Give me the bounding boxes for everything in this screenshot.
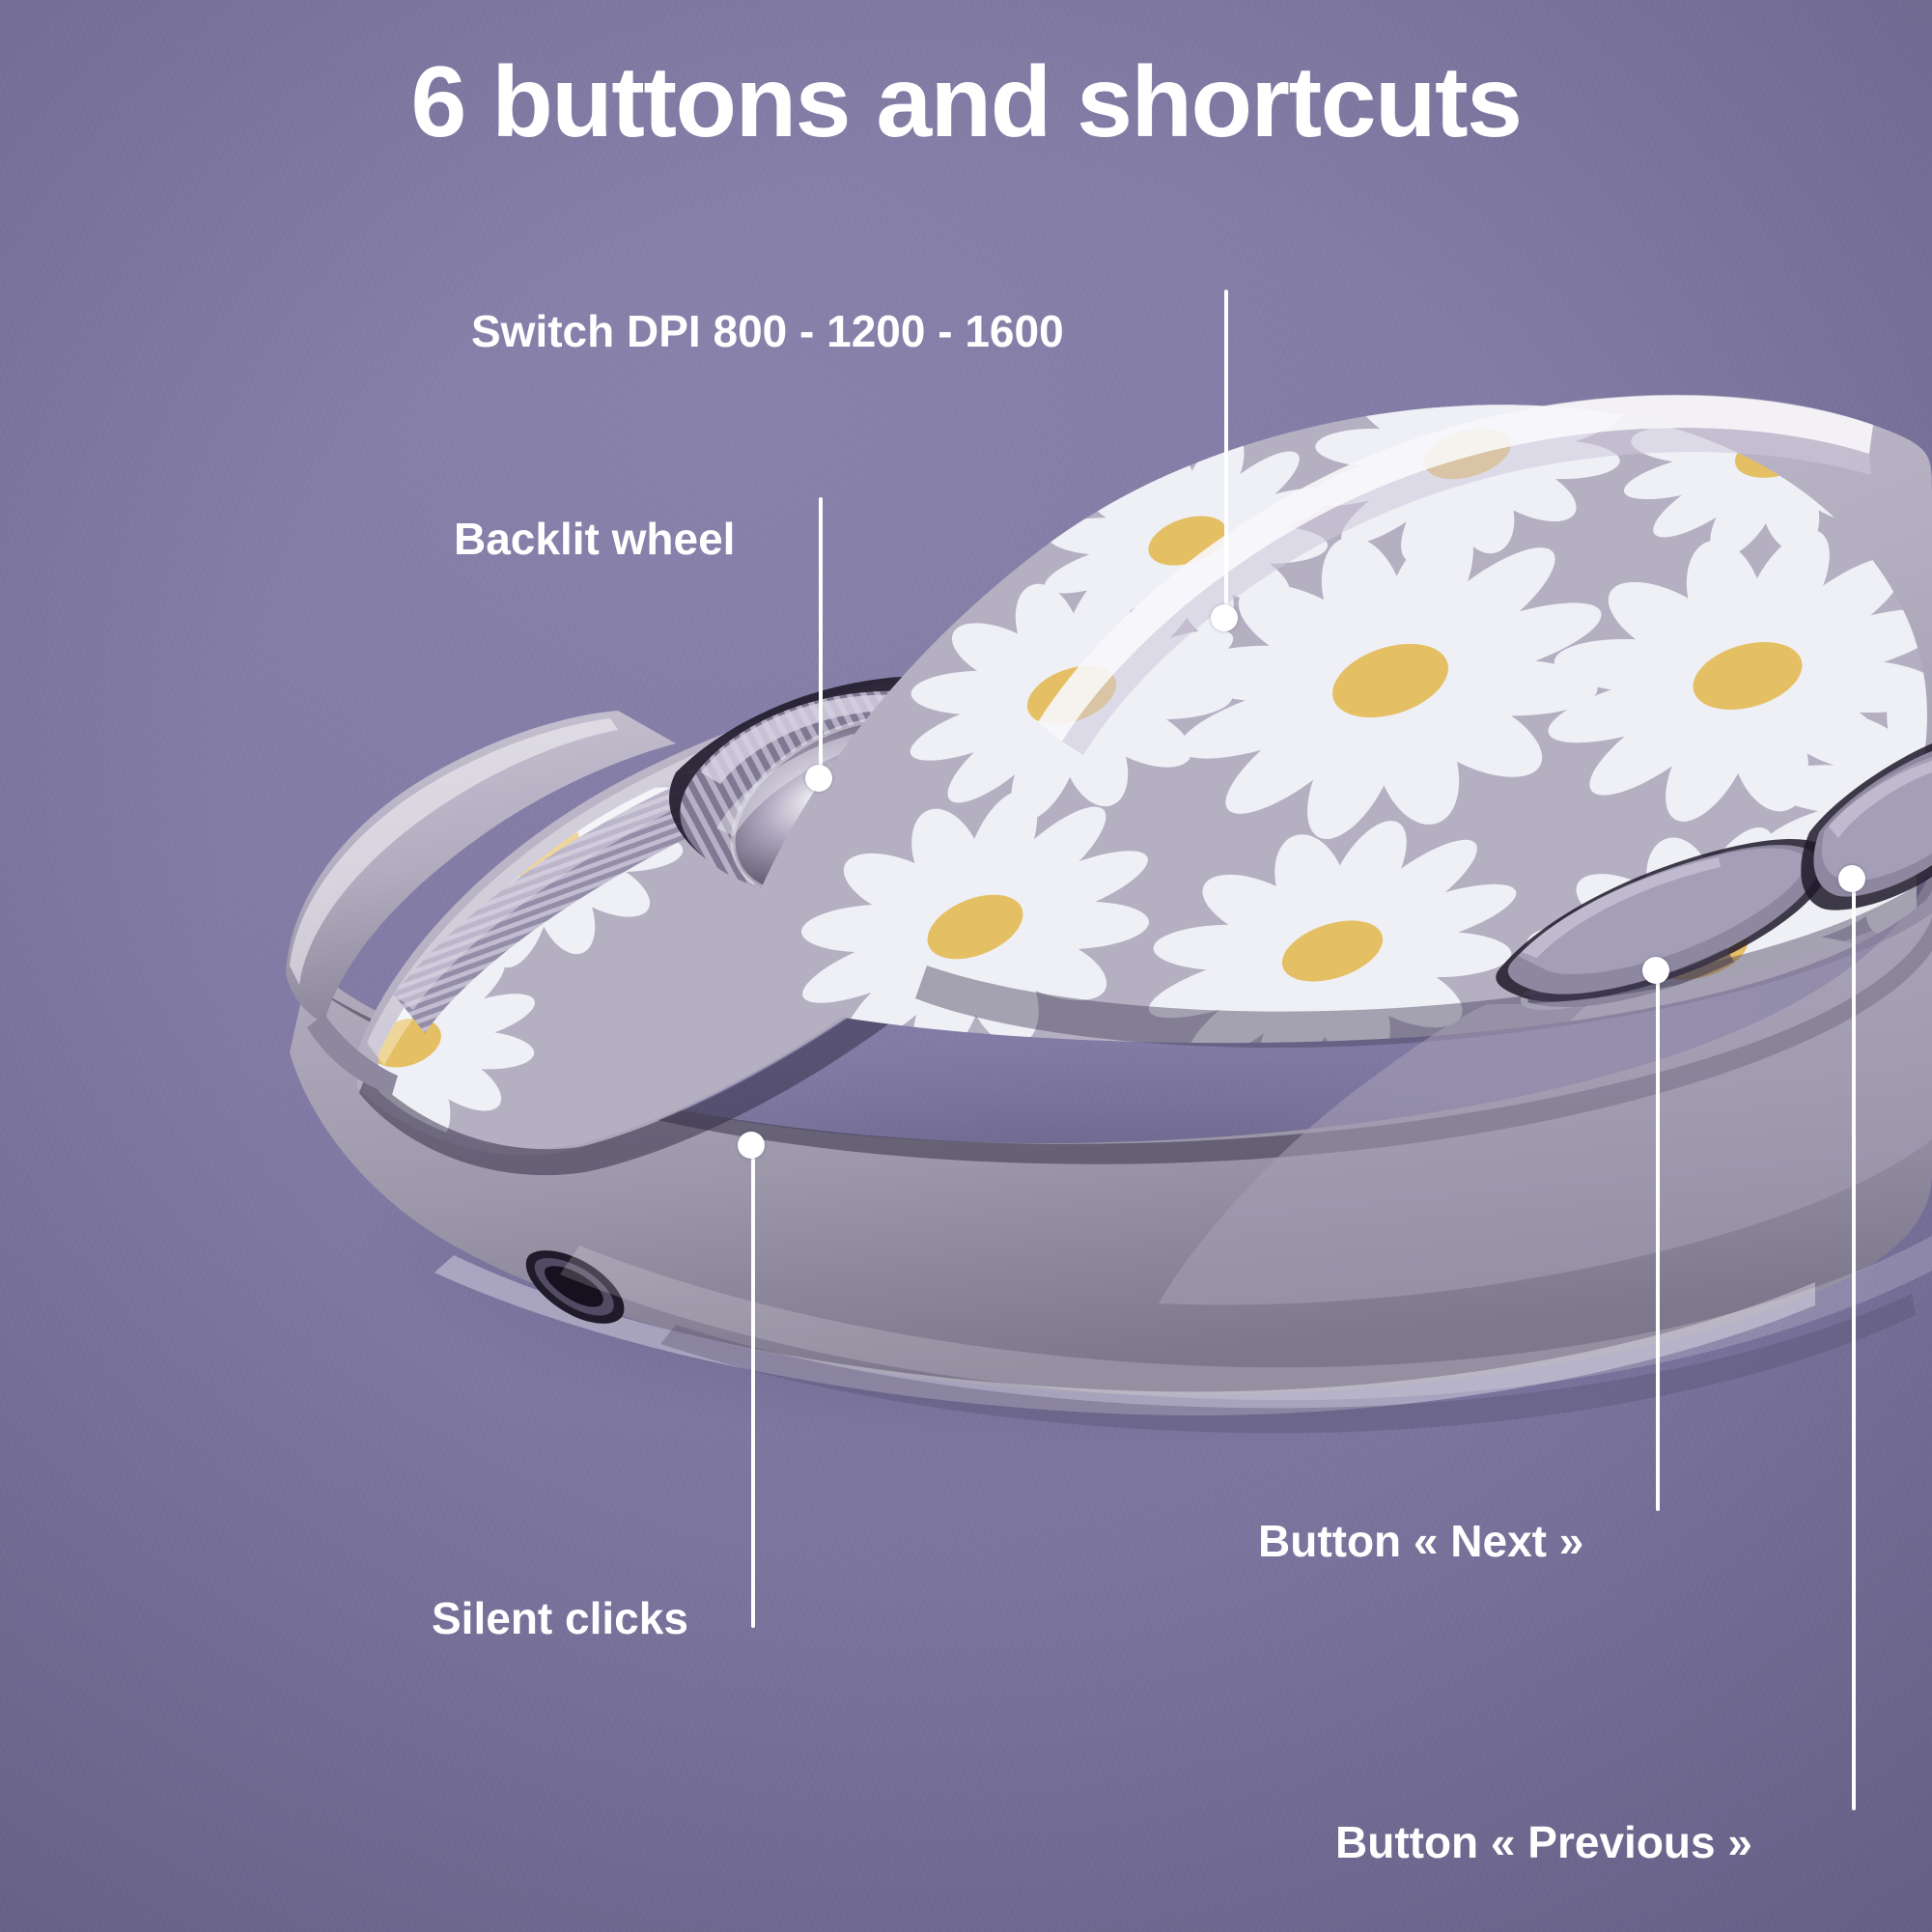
callout-label-button-next: Button « Next » (1258, 1519, 1583, 1563)
leader-line-button-next (1656, 970, 1660, 1511)
callout-label-silent-clicks: Silent clicks (432, 1596, 688, 1640)
leader-dot-button-next (1642, 957, 1669, 984)
leader-dot-silent-clicks (738, 1132, 765, 1159)
leader-line-silent-clicks (751, 1145, 755, 1628)
leader-line-backlit-wheel (819, 497, 823, 778)
infographic-canvas: 6 buttons and shortcuts Switch DPI 800 -… (0, 0, 1932, 1932)
leader-line-dpi (1224, 290, 1228, 615)
leader-line-button-previous (1852, 879, 1856, 1810)
callout-label-backlit-wheel: Backlit wheel (454, 517, 735, 561)
leader-dot-button-previous (1838, 865, 1865, 892)
leader-dot-backlit-wheel (805, 765, 832, 792)
callout-label-dpi: Switch DPI 800 - 1200 - 1600 (471, 309, 1064, 353)
page-title: 6 buttons and shortcuts (0, 50, 1932, 155)
callout-label-button-previous: Button « Previous » (1335, 1820, 1752, 1864)
leader-dot-dpi (1211, 604, 1238, 631)
